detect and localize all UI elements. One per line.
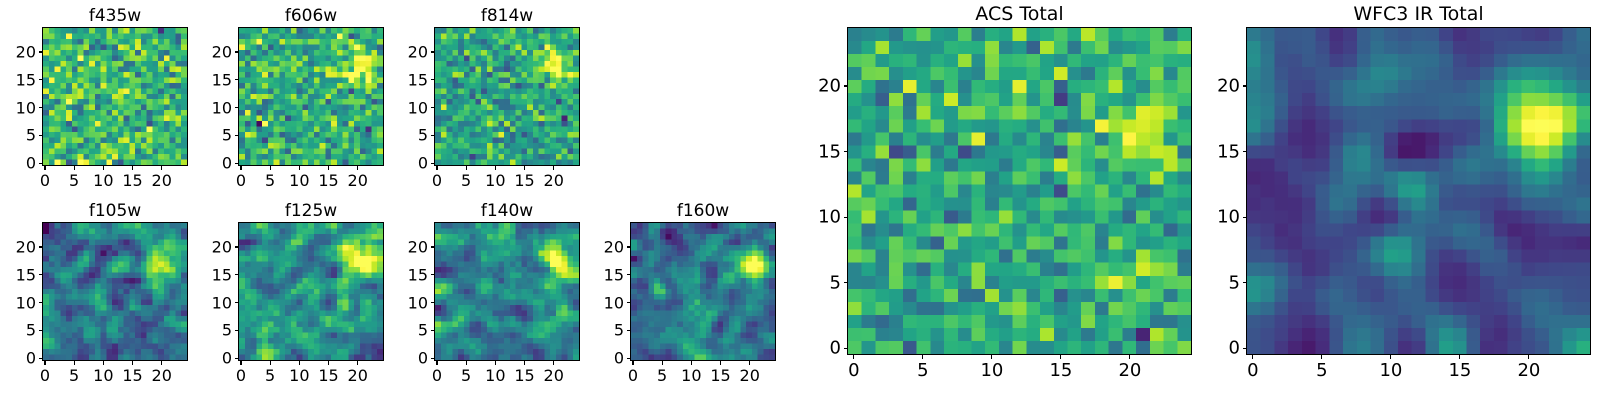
x-tick-wfc3-ir-total-5 [1321, 355, 1322, 359]
x-tick-f125w-20 [357, 361, 358, 365]
y-tick-f814w-15 [431, 79, 435, 80]
y-tick-f105w-15 [39, 274, 43, 275]
heatmap-image-f160w [631, 223, 775, 360]
x-tick-label-f606w-5: 5 [265, 171, 275, 190]
y-tick-label-f125w-10: 10 [206, 293, 232, 312]
y-tick-label-wfc3-ir-total-5: 5 [1210, 272, 1240, 293]
y-tick-label-acs-total-20: 20 [811, 76, 841, 97]
x-tick-label-f160w-0: 0 [628, 366, 638, 385]
y-tick-f140w-5 [431, 330, 435, 331]
y-tick-label-wfc3-ir-total-0: 0 [1210, 338, 1240, 359]
panel-title-wfc3-ir-total: WFC3 IR Total [1246, 3, 1591, 25]
heatmap-image-f814w [435, 28, 579, 165]
y-tick-label-acs-total-5: 5 [811, 272, 841, 293]
y-tick-f125w-15 [235, 274, 239, 275]
x-tick-wfc3-ir-total-0 [1252, 355, 1253, 359]
x-tick-f814w-0 [436, 166, 437, 170]
x-tick-label-f125w-20: 20 [348, 366, 368, 385]
y-tick-f105w-20 [39, 246, 43, 247]
x-tick-label-f125w-15: 15 [318, 366, 338, 385]
y-tick-label-f606w-20: 20 [206, 43, 232, 62]
y-tick-label-f606w-5: 5 [206, 126, 232, 145]
y-tick-f435w-20 [39, 51, 43, 52]
y-tick-label-f105w-20: 20 [10, 238, 36, 257]
y-tick-acs-total-5 [844, 282, 848, 283]
y-tick-label-f814w-5: 5 [402, 126, 428, 145]
y-tick-f814w-10 [431, 107, 435, 108]
y-tick-label-f814w-15: 15 [402, 70, 428, 89]
x-tick-label-wfc3-ir-total-0: 0 [1247, 360, 1258, 381]
axes-acs-total [847, 27, 1192, 355]
y-tick-wfc3-ir-total-15 [1243, 151, 1247, 152]
x-tick-f160w-0 [632, 361, 633, 365]
x-tick-acs-total-15 [1060, 355, 1061, 359]
x-tick-f814w-10 [495, 166, 496, 170]
y-tick-f160w-10 [627, 302, 631, 303]
y-tick-f606w-15 [235, 79, 239, 80]
y-tick-label-f105w-15: 15 [10, 265, 36, 284]
y-tick-f140w-20 [431, 246, 435, 247]
heatmap-image-f435w [43, 28, 187, 165]
figure-canvas: f435w0510152005101520f606w05101520051015… [0, 0, 1600, 400]
y-tick-f606w-5 [235, 135, 239, 136]
y-tick-f814w-5 [431, 135, 435, 136]
x-tick-f814w-5 [466, 166, 467, 170]
x-tick-label-f140w-15: 15 [514, 366, 534, 385]
heatmap-image-acs-total [848, 28, 1191, 354]
y-tick-wfc3-ir-total-5 [1243, 282, 1247, 283]
x-tick-f435w-15 [132, 166, 133, 170]
y-tick-label-f160w-10: 10 [598, 293, 624, 312]
x-tick-label-f125w-10: 10 [289, 366, 309, 385]
x-tick-label-f435w-5: 5 [69, 171, 79, 190]
y-tick-label-acs-total-15: 15 [811, 141, 841, 162]
x-tick-label-f105w-5: 5 [69, 366, 79, 385]
axes-f160w [630, 222, 776, 361]
x-tick-f814w-15 [524, 166, 525, 170]
x-tick-wfc3-ir-total-10 [1390, 355, 1391, 359]
x-tick-label-f105w-10: 10 [93, 366, 113, 385]
x-tick-label-f435w-15: 15 [122, 171, 142, 190]
panel-f140w: f140w0510152005101520 [434, 222, 580, 361]
y-tick-wfc3-ir-total-20 [1243, 85, 1247, 86]
panel-wfc3-ir-total: WFC3 IR Total0510152005101520 [1246, 27, 1591, 355]
x-tick-f160w-20 [749, 361, 750, 365]
x-tick-label-f160w-20: 20 [740, 366, 760, 385]
y-tick-f125w-10 [235, 302, 239, 303]
y-tick-label-f435w-10: 10 [10, 98, 36, 117]
x-tick-f160w-10 [691, 361, 692, 365]
x-tick-f125w-10 [299, 361, 300, 365]
x-tick-label-f140w-5: 5 [461, 366, 471, 385]
panel-title-f435w: f435w [42, 6, 188, 26]
x-tick-label-f606w-20: 20 [348, 171, 368, 190]
x-tick-f105w-5 [74, 361, 75, 365]
x-tick-label-acs-total-15: 15 [1049, 360, 1072, 381]
x-tick-f435w-0 [44, 166, 45, 170]
x-tick-f125w-0 [240, 361, 241, 365]
y-tick-f140w-10 [431, 302, 435, 303]
y-tick-label-f435w-0: 0 [10, 154, 36, 173]
x-tick-label-f105w-0: 0 [40, 366, 50, 385]
y-tick-f105w-5 [39, 330, 43, 331]
y-tick-label-f105w-5: 5 [10, 321, 36, 340]
y-tick-label-f814w-0: 0 [402, 154, 428, 173]
x-tick-label-f160w-15: 15 [710, 366, 730, 385]
y-tick-acs-total-20 [844, 85, 848, 86]
panel-title-f814w: f814w [434, 6, 580, 26]
x-tick-label-f140w-0: 0 [432, 366, 442, 385]
axes-f814w [434, 27, 580, 166]
x-tick-f814w-20 [553, 166, 554, 170]
x-tick-f606w-20 [357, 166, 358, 170]
heatmap-image-f125w [239, 223, 383, 360]
x-tick-label-acs-total-20: 20 [1118, 360, 1141, 381]
x-tick-label-f160w-5: 5 [657, 366, 667, 385]
y-tick-f160w-5 [627, 330, 631, 331]
x-tick-label-f814w-0: 0 [432, 171, 442, 190]
y-tick-label-f814w-10: 10 [402, 98, 428, 117]
x-tick-wfc3-ir-total-15 [1459, 355, 1460, 359]
x-tick-f160w-5 [662, 361, 663, 365]
y-tick-f435w-10 [39, 107, 43, 108]
y-tick-label-f435w-15: 15 [10, 70, 36, 89]
y-tick-f435w-0 [39, 163, 43, 164]
x-tick-label-f606w-15: 15 [318, 171, 338, 190]
y-tick-f606w-10 [235, 107, 239, 108]
heatmap-image-wfc3-ir-total [1247, 28, 1590, 354]
x-tick-label-acs-total-0: 0 [848, 360, 859, 381]
y-tick-label-f814w-20: 20 [402, 43, 428, 62]
x-tick-label-f814w-20: 20 [544, 171, 564, 190]
y-tick-label-f160w-15: 15 [598, 265, 624, 284]
axes-f606w [238, 27, 384, 166]
y-tick-f125w-0 [235, 358, 239, 359]
heatmap-image-f140w [435, 223, 579, 360]
y-tick-acs-total-10 [844, 217, 848, 218]
x-tick-label-f435w-10: 10 [93, 171, 113, 190]
y-tick-label-f140w-10: 10 [402, 293, 428, 312]
panel-title-f140w: f140w [434, 201, 580, 221]
x-tick-label-f105w-20: 20 [152, 366, 172, 385]
panel-f606w: f606w0510152005101520 [238, 27, 384, 166]
y-tick-f105w-0 [39, 358, 43, 359]
y-tick-f606w-0 [235, 163, 239, 164]
y-tick-f125w-20 [235, 246, 239, 247]
y-tick-f814w-20 [431, 51, 435, 52]
x-tick-f160w-15 [720, 361, 721, 365]
y-tick-acs-total-15 [844, 151, 848, 152]
x-tick-label-f105w-15: 15 [122, 366, 142, 385]
x-tick-acs-total-10 [991, 355, 992, 359]
x-tick-f435w-20 [161, 166, 162, 170]
y-tick-label-wfc3-ir-total-15: 15 [1210, 141, 1240, 162]
y-tick-f125w-5 [235, 330, 239, 331]
x-tick-label-wfc3-ir-total-20: 20 [1517, 360, 1540, 381]
y-tick-label-f160w-20: 20 [598, 238, 624, 257]
x-tick-f140w-15 [524, 361, 525, 365]
y-tick-label-f435w-20: 20 [10, 43, 36, 62]
y-tick-label-f140w-15: 15 [402, 265, 428, 284]
x-tick-label-f160w-10: 10 [681, 366, 701, 385]
y-tick-label-wfc3-ir-total-20: 20 [1210, 76, 1240, 97]
panel-title-f606w: f606w [238, 6, 384, 26]
y-tick-label-f140w-0: 0 [402, 349, 428, 368]
y-tick-label-acs-total-10: 10 [811, 207, 841, 228]
x-tick-f435w-5 [74, 166, 75, 170]
axes-wfc3-ir-total [1246, 27, 1591, 355]
x-tick-label-f814w-10: 10 [485, 171, 505, 190]
x-tick-label-f435w-0: 0 [40, 171, 50, 190]
x-tick-acs-total-20 [1129, 355, 1130, 359]
y-tick-label-wfc3-ir-total-10: 10 [1210, 207, 1240, 228]
y-tick-label-f125w-15: 15 [206, 265, 232, 284]
x-tick-f105w-0 [44, 361, 45, 365]
x-tick-f105w-10 [103, 361, 104, 365]
x-tick-f140w-20 [553, 361, 554, 365]
panel-f160w: f160w0510152005101520 [630, 222, 776, 361]
panel-title-f160w: f160w [630, 201, 776, 221]
x-tick-f105w-15 [132, 361, 133, 365]
y-tick-f814w-0 [431, 163, 435, 164]
x-tick-acs-total-5 [922, 355, 923, 359]
y-tick-label-f435w-5: 5 [10, 126, 36, 145]
panel-f814w: f814w0510152005101520 [434, 27, 580, 166]
axes-f140w [434, 222, 580, 361]
x-tick-f606w-5 [270, 166, 271, 170]
x-tick-label-acs-total-5: 5 [917, 360, 928, 381]
y-tick-label-f606w-0: 0 [206, 154, 232, 173]
axes-f105w [42, 222, 188, 361]
y-tick-label-f125w-0: 0 [206, 349, 232, 368]
x-tick-f606w-10 [299, 166, 300, 170]
panel-title-f125w: f125w [238, 201, 384, 221]
x-tick-f435w-10 [103, 166, 104, 170]
x-tick-acs-total-0 [853, 355, 854, 359]
heatmap-image-f606w [239, 28, 383, 165]
x-tick-label-f125w-5: 5 [265, 366, 275, 385]
x-tick-f125w-15 [328, 361, 329, 365]
y-tick-wfc3-ir-total-0 [1243, 348, 1247, 349]
y-tick-label-f125w-20: 20 [206, 238, 232, 257]
y-tick-f160w-0 [627, 358, 631, 359]
axes-f125w [238, 222, 384, 361]
x-tick-label-wfc3-ir-total-15: 15 [1448, 360, 1471, 381]
y-tick-f160w-20 [627, 246, 631, 247]
x-tick-label-f814w-15: 15 [514, 171, 534, 190]
x-tick-f140w-10 [495, 361, 496, 365]
y-tick-f606w-20 [235, 51, 239, 52]
x-tick-f125w-5 [270, 361, 271, 365]
axes-f435w [42, 27, 188, 166]
y-tick-label-f105w-10: 10 [10, 293, 36, 312]
x-tick-label-f140w-10: 10 [485, 366, 505, 385]
y-tick-label-f140w-5: 5 [402, 321, 428, 340]
x-tick-f140w-0 [436, 361, 437, 365]
x-tick-label-f606w-10: 10 [289, 171, 309, 190]
y-tick-label-f125w-5: 5 [206, 321, 232, 340]
panel-f435w: f435w0510152005101520 [42, 27, 188, 166]
panel-f105w: f105w0510152005101520 [42, 222, 188, 361]
y-tick-label-f606w-10: 10 [206, 98, 232, 117]
y-tick-label-f160w-0: 0 [598, 349, 624, 368]
x-tick-label-f814w-5: 5 [461, 171, 471, 190]
panel-title-f105w: f105w [42, 201, 188, 221]
y-tick-f435w-15 [39, 79, 43, 80]
panel-f125w: f125w0510152005101520 [238, 222, 384, 361]
x-tick-f140w-5 [466, 361, 467, 365]
x-tick-label-f435w-20: 20 [152, 171, 172, 190]
x-tick-wfc3-ir-total-20 [1528, 355, 1529, 359]
heatmap-image-f105w [43, 223, 187, 360]
x-tick-label-f140w-20: 20 [544, 366, 564, 385]
panel-acs-total: ACS Total0510152005101520 [847, 27, 1192, 355]
y-tick-label-acs-total-0: 0 [811, 338, 841, 359]
x-tick-label-f125w-0: 0 [236, 366, 246, 385]
y-tick-label-f606w-15: 15 [206, 70, 232, 89]
y-tick-label-f140w-20: 20 [402, 238, 428, 257]
x-tick-label-acs-total-10: 10 [980, 360, 1003, 381]
x-tick-f606w-15 [328, 166, 329, 170]
x-tick-label-f606w-0: 0 [236, 171, 246, 190]
y-tick-f140w-0 [431, 358, 435, 359]
y-tick-f105w-10 [39, 302, 43, 303]
x-tick-f606w-0 [240, 166, 241, 170]
y-tick-f160w-15 [627, 274, 631, 275]
y-tick-f140w-15 [431, 274, 435, 275]
x-tick-f105w-20 [161, 361, 162, 365]
y-tick-label-f160w-5: 5 [598, 321, 624, 340]
y-tick-acs-total-0 [844, 348, 848, 349]
x-tick-label-wfc3-ir-total-5: 5 [1316, 360, 1327, 381]
x-tick-label-wfc3-ir-total-10: 10 [1379, 360, 1402, 381]
y-tick-wfc3-ir-total-10 [1243, 217, 1247, 218]
panel-title-acs-total: ACS Total [847, 3, 1192, 25]
y-tick-f435w-5 [39, 135, 43, 136]
y-tick-label-f105w-0: 0 [10, 349, 36, 368]
